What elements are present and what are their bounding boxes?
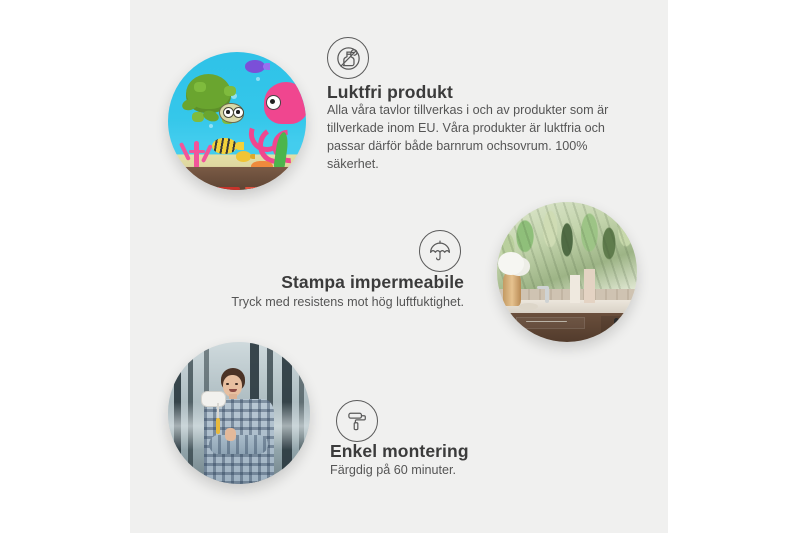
woman-with-paint-roller-forest-wallpaper-photo — [168, 342, 310, 484]
fish-illustration — [236, 151, 251, 161]
paint-roller-prop — [201, 391, 228, 419]
bathroom-green-leaf-wallpaper-photo — [497, 202, 637, 342]
woman-illustration — [199, 368, 279, 484]
fish-illustration — [245, 60, 264, 72]
section-body: Alla våra tavlor tillverkas i och av pro… — [327, 102, 615, 174]
turtle-illustration — [182, 71, 254, 132]
section-body: Tryck med resistens mot hög luftfuktighe… — [0, 294, 472, 312]
no-perfume-icon — [327, 37, 369, 79]
section-heading: Stampa impermeabile — [0, 272, 472, 293]
section-heading: Luktfri produkt — [327, 82, 453, 103]
umbrella-icon — [419, 230, 461, 272]
underwater-cartoon-sea-turtle-octopus-photo — [168, 52, 306, 190]
fish-illustration — [212, 138, 237, 155]
paint-roller-icon — [336, 400, 378, 442]
section-body: Färgdig på 60 minuter. — [330, 462, 456, 480]
section-heading: Enkel montering — [330, 441, 469, 462]
product-feature-banner: Luktfri produkt Alla våra tavlor tillver… — [0, 0, 800, 533]
photo-bottom-strip — [168, 167, 306, 190]
